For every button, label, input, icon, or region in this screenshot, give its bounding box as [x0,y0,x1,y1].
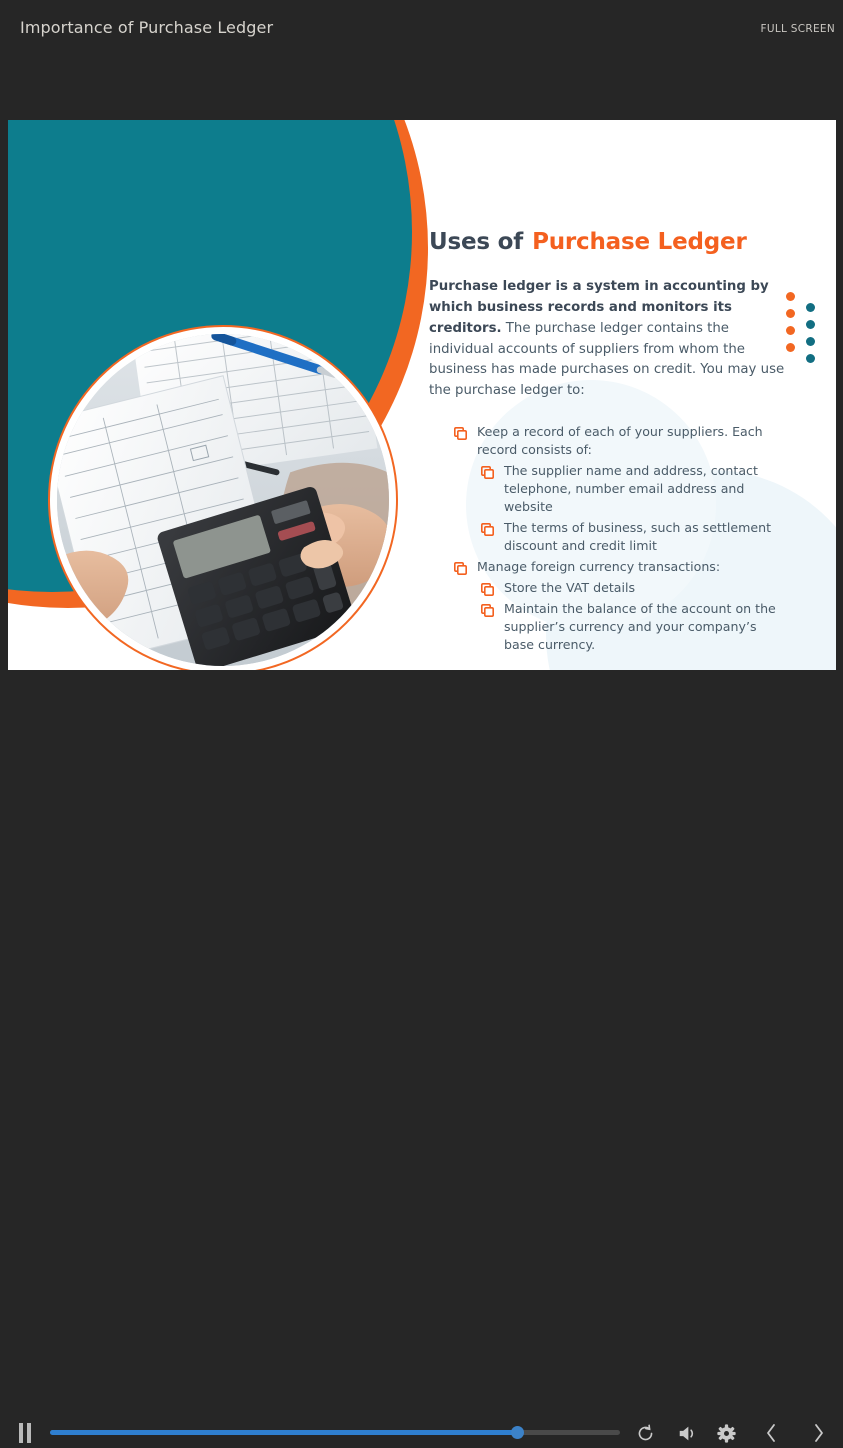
list-item: Maintain the balance of the account on t… [429,600,809,654]
next-slide-button[interactable] [804,1418,834,1448]
copy-icon [481,583,494,596]
intro-paragraph: Purchase ledger is a system in accountin… [429,277,786,402]
previous-slide-button[interactable] [756,1418,786,1448]
list-item-label: Maintain the balance of the account on t… [504,600,776,654]
player-bar [0,670,843,793]
page-title: Importance of Purchase Ledger [20,18,273,37]
copy-icon [454,427,467,440]
calculator-tax-forms-image [57,334,389,666]
replay-button[interactable] [630,1418,660,1448]
list-item: The supplier name and address, contact t… [429,462,809,516]
list-item: Keep a record of each of your suppliers.… [429,423,809,459]
copy-icon [454,562,467,575]
copy-icon [481,523,494,536]
progress-slider[interactable] [50,1430,620,1435]
pause-button[interactable] [14,1421,36,1445]
list-item-label: Store the VAT details [504,579,776,597]
settings-gear-button[interactable] [711,1418,741,1448]
fullscreen-button[interactable]: FULL SCREEN [761,23,835,35]
photo-ring-frame [48,325,398,670]
progress-handle[interactable] [511,1426,524,1439]
list-item: Manage foreign currency transactions: [429,558,809,576]
volume-button[interactable] [672,1418,702,1448]
slide-headline: Uses ofPurchase Ledger [429,230,809,255]
copy-icon [481,604,494,617]
progress-fill [50,1430,517,1435]
list-item: The terms of business, such as settlemen… [429,519,809,555]
slide-content: Uses ofPurchase Ledger Purchase ledger i… [429,230,809,657]
list-item-label: The supplier name and address, contact t… [504,462,776,516]
list-item: Store the VAT details [429,579,809,597]
headline-accent: Purchase Ledger [532,229,747,255]
top-bar: Importance of Purchase Ledger FULL SCREE… [0,0,843,58]
list-item-label: The terms of business, such as settlemen… [504,519,776,555]
copy-icon [481,466,494,479]
bullet-list: Keep a record of each of your suppliers.… [429,423,809,654]
headline-primary: Uses of [429,229,523,255]
slide-stage: Uses ofPurchase Ledger Purchase ledger i… [8,120,836,670]
list-item-label: Manage foreign currency transactions: [477,558,777,576]
list-item-label: Keep a record of each of your suppliers.… [477,423,777,459]
